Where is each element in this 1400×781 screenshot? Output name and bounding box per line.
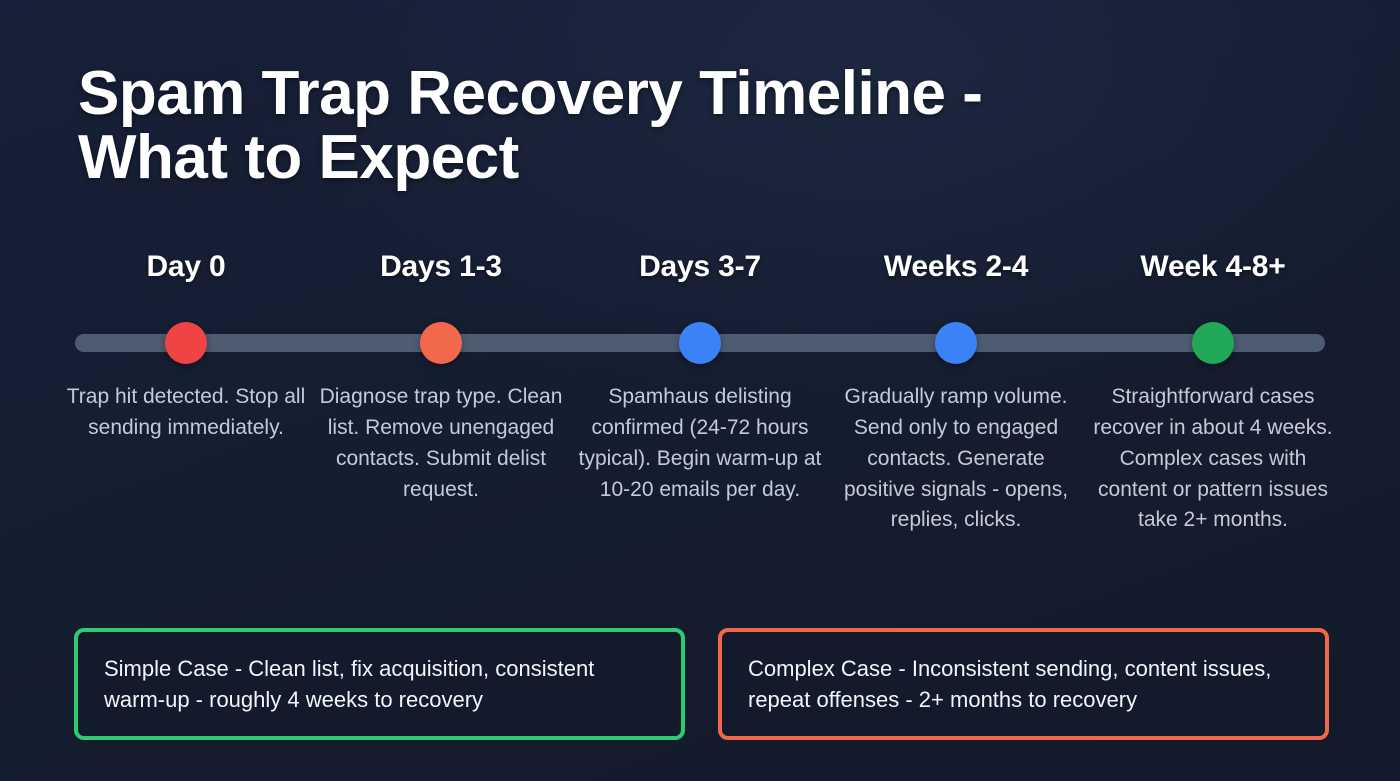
timeline-stage-label: Days 1-3	[321, 252, 561, 282]
timeline-stage-label: Days 3-7	[580, 252, 820, 282]
infographic-slide: Spam Trap Recovery Timeline - What to Ex…	[0, 0, 1400, 781]
circle-icon	[1192, 322, 1234, 364]
page-title-line-2: What to Expect	[78, 126, 1078, 190]
page-title-line-1: Spam Trap Recovery Timeline -	[78, 62, 1078, 126]
timeline-stage-1: Day 0 Trap hit detected. Stop all sendin…	[66, 252, 306, 282]
timeline-dot-day-0	[165, 322, 207, 364]
timeline-stage-description: Straightforward cases recover in about 4…	[1088, 382, 1338, 536]
circle-icon	[420, 322, 462, 364]
outcome-simple-case-text: Simple Case - Clean list, fix acquisitio…	[104, 653, 655, 715]
timeline-stage-4: Weeks 2-4 Gradually ramp volume. Send on…	[836, 252, 1076, 282]
timeline-stage-3: Days 3-7 Spamhaus delisting confirmed (2…	[580, 252, 820, 282]
timeline-stage-label: Weeks 2-4	[836, 252, 1076, 282]
outcome-box-complex-case: Complex Case - Inconsistent sending, con…	[718, 628, 1329, 740]
timeline-stage-description: Gradually ramp volume. Send only to enga…	[831, 382, 1081, 536]
outcome-box-simple-case: Simple Case - Clean list, fix acquisitio…	[74, 628, 685, 740]
timeline-dot-weeks-2-4	[935, 322, 977, 364]
timeline-dot-week-4-8-plus	[1192, 322, 1234, 364]
timeline-stage-label: Day 0	[66, 252, 306, 282]
timeline-stage-label: Week 4-8+	[1093, 252, 1333, 282]
timeline-stage-5: Week 4-8+ Straightforward cases recover …	[1093, 252, 1333, 282]
recovery-timeline: Day 0 Trap hit detected. Stop all sendin…	[75, 252, 1325, 582]
circle-icon	[935, 322, 977, 364]
circle-icon	[165, 322, 207, 364]
timeline-stage-description: Spamhaus delisting confirmed (24-72 hour…	[575, 382, 825, 505]
timeline-dot-days-1-3	[420, 322, 462, 364]
timeline-stage-2: Days 1-3 Diagnose trap type. Clean list.…	[321, 252, 561, 282]
circle-icon	[679, 322, 721, 364]
outcome-complex-case-text: Complex Case - Inconsistent sending, con…	[748, 653, 1299, 715]
timeline-dot-days-3-7	[679, 322, 721, 364]
page-title: Spam Trap Recovery Timeline - What to Ex…	[78, 62, 1078, 191]
timeline-stage-description: Diagnose trap type. Clean list. Remove u…	[316, 382, 566, 505]
timeline-stage-description: Trap hit detected. Stop all sending imme…	[61, 382, 311, 444]
